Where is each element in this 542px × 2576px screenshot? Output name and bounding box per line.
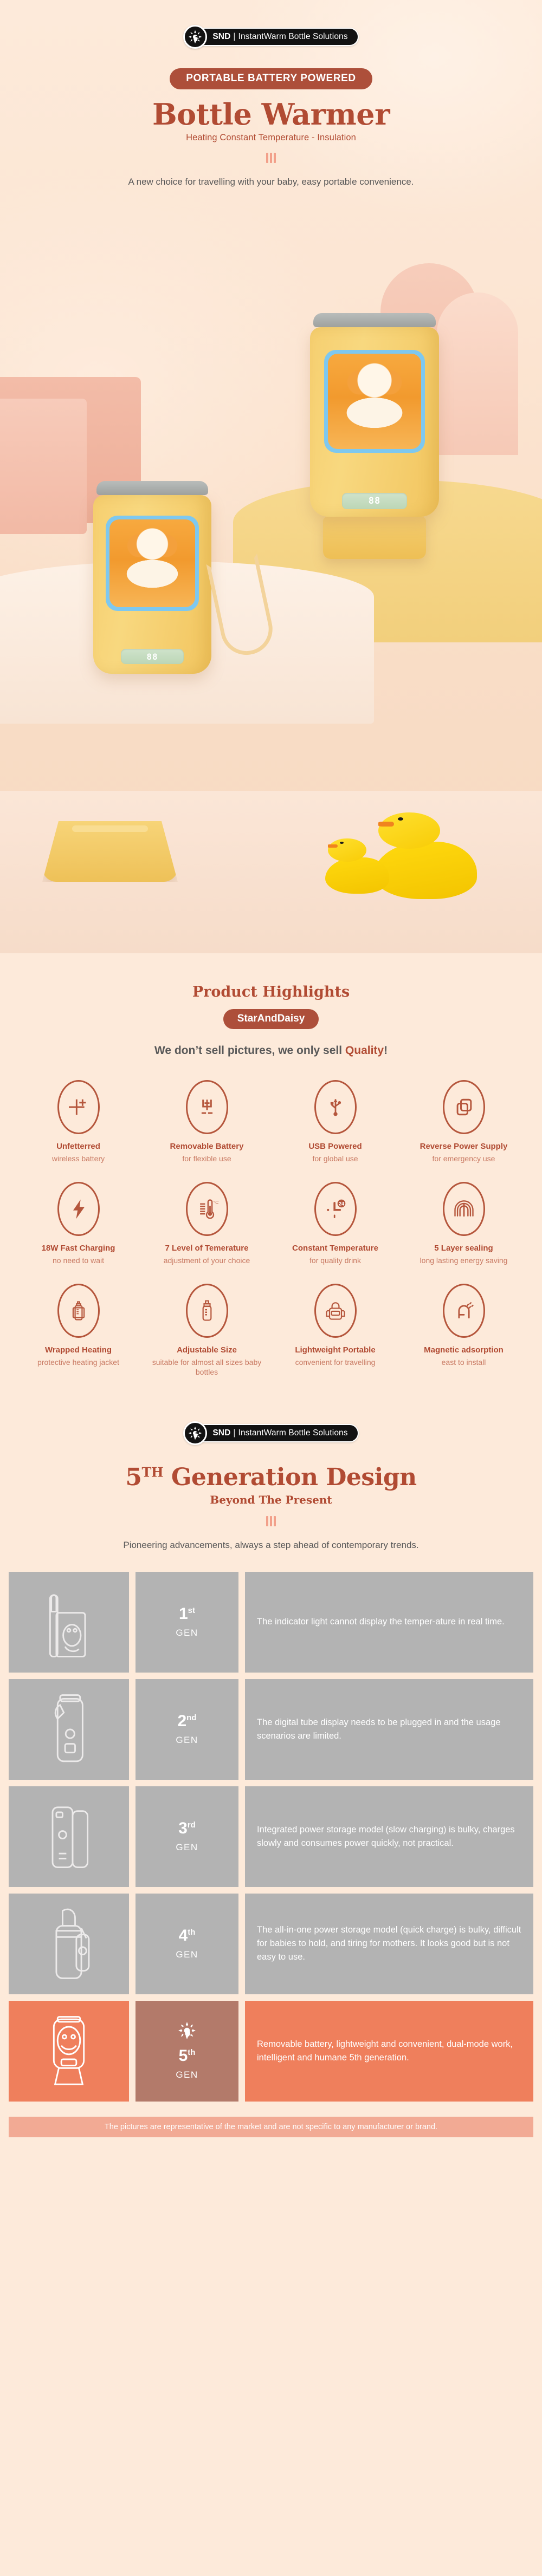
warmer-lid [313, 313, 436, 327]
warmer-lid [96, 481, 208, 495]
bottle-sleeve-icon [9, 1894, 129, 1994]
feature-title: 18W Fast Charging [17, 1244, 139, 1254]
backdrop-pillar-right-2 [437, 292, 518, 455]
generation-label: GEN [176, 2070, 198, 2080]
feature-item: Reverse Power Supply for emergency use [399, 1080, 528, 1163]
feature-subtitle: long lasting energy saving [403, 1256, 525, 1265]
duck-body [325, 857, 389, 894]
brand-name-full: InstantWarm Bottle Solutions [238, 32, 348, 42]
generation-ordinal: 1st [179, 1606, 195, 1622]
generation-ordinal: 2nd [177, 1713, 196, 1729]
brand-logo: SND | InstantWarm Bottle Solutions [183, 1421, 358, 1445]
generation-design-section: SND | InstantWarm Bottle Solutions 5TH G… [0, 1400, 542, 2137]
feature-subtitle: convenient for travelling [274, 1357, 396, 1367]
generation-title-rest: Generation Design [163, 1463, 417, 1491]
feature-subtitle: adjustment of your choice [146, 1256, 268, 1265]
quality-highlight: Quality [345, 1044, 384, 1057]
battery-cell-icon [57, 1080, 100, 1134]
disclaimer-footnote: The pictures are representative of the m… [9, 2117, 533, 2137]
feature-title: Reverse Power Supply [403, 1142, 525, 1152]
feature-subtitle: wireless battery [17, 1154, 139, 1163]
feature-subtitle: for global use [274, 1154, 396, 1163]
generation-subtitle: Beyond The Present [0, 1493, 542, 1506]
table-row: 1st GEN The indicator light cannot displ… [9, 1572, 533, 1673]
tiger-character-icon [328, 354, 421, 449]
feature-title: Wrapped Heating [17, 1345, 139, 1356]
feature-item: USB Powered for global use [271, 1080, 399, 1163]
feature-subtitle: no need to wait [17, 1256, 139, 1265]
svg-text:24: 24 [338, 1201, 344, 1207]
generation-description: The all-in-one power storage model (quic… [245, 1894, 533, 1994]
tiger-sticker [324, 350, 425, 453]
thermometer-icon: °C [186, 1182, 228, 1236]
generation-title-ordinal: TH [141, 1464, 163, 1480]
feature-item: 5 Layer sealing long lasting energy savi… [399, 1182, 528, 1265]
svg-text:°C: °C [213, 1200, 218, 1205]
feature-subtitle: suitable for almost all sizes baby bottl… [146, 1357, 268, 1377]
feature-title: Lightweight Portable [274, 1345, 396, 1356]
duck-head [328, 838, 366, 862]
feature-item: 18W Fast Charging no need to wait [14, 1182, 143, 1265]
generation-ordinal: 3rd [178, 1820, 196, 1837]
bottle-warmer-small: 88 [93, 481, 211, 674]
generation-title: 5TH Generation Design [0, 1463, 542, 1491]
feature-item: Lightweight Portable convenient for trav… [271, 1284, 399, 1377]
tiger-character-icon [109, 519, 195, 607]
duck-beak [328, 844, 338, 848]
table-row: 4th GEN The all-in-one power storage mod… [9, 1894, 533, 1994]
baby-bottle-icon [186, 1284, 228, 1338]
duck-beak [378, 822, 395, 827]
rubber-duck-small [325, 838, 389, 894]
feature-item: Adjustable Size suitable for almost all … [143, 1284, 271, 1377]
quality-suffix: ! [384, 1044, 388, 1057]
feature-title: 7 Level of Temerature [146, 1244, 268, 1254]
generation-label: GEN [176, 1628, 198, 1638]
generation-description: Integrated power storage model (slow cha… [245, 1786, 533, 1887]
hero-lede: A new choice for travelling with your ba… [119, 175, 423, 189]
generation-label: GEN [176, 1949, 198, 1960]
feature-subtitle: for quality drink [274, 1256, 396, 1265]
brand-logo-bar: SND | InstantWarm Bottle Solutions [196, 28, 358, 46]
feature-title: USB Powered [274, 1142, 396, 1152]
features-grid: Unfetterred wireless battery Removable B… [0, 1080, 542, 1377]
backpack-icon [314, 1284, 357, 1338]
hero-subtitle: Heating Constant Temperature - Insulatio… [0, 133, 542, 143]
generation-number: 2nd GEN [135, 1679, 238, 1780]
generation-number: 4th GEN [135, 1894, 238, 1994]
usb-icon [314, 1080, 357, 1134]
generation-ordinal: 5th [179, 2048, 196, 2064]
product-landing-page: SND | InstantWarm Bottle Solutions PORTA… [0, 0, 542, 2149]
temperature-display: 88 [121, 649, 184, 664]
generation-number: 3rd GEN [135, 1786, 238, 1887]
generation-number: 5th GEN [135, 2001, 238, 2102]
duck-body [374, 842, 477, 899]
brand-name-short: SND [212, 32, 230, 42]
generation-title-number: 5 [125, 1463, 141, 1491]
removable-battery-icon [186, 1080, 228, 1134]
triple-bar-divider-icon [266, 153, 276, 163]
temperature-display: 88 [342, 493, 407, 509]
cup-with-brush-icon [9, 1572, 129, 1673]
feature-item: Wrapped Heating protective heating jacke… [14, 1284, 143, 1377]
lightning-bolt-icon [57, 1182, 100, 1236]
brand-logo: SND | InstantWarm Bottle Solutions [183, 25, 358, 49]
layers-seal-icon [443, 1182, 485, 1236]
detachable-battery-base [42, 821, 178, 882]
feature-subtitle: for emergency use [403, 1154, 525, 1163]
feature-title: Removable Battery [146, 1142, 268, 1152]
wrapped-bottle-icon [57, 1284, 100, 1338]
tiger-warmer-icon [9, 2001, 129, 2102]
feature-subtitle: east to install [403, 1357, 525, 1367]
feature-title: Magnetic adsorption [403, 1345, 525, 1356]
page-title: Bottle Warmer [0, 97, 542, 132]
feature-title: 5 Layer sealing [403, 1244, 525, 1254]
brand-chip: StarAndDaisy [223, 1009, 319, 1029]
feature-item: °C 7 Level of Temerature adjustment of y… [143, 1182, 271, 1265]
brand-logo-bar: SND | InstantWarm Bottle Solutions [196, 1424, 358, 1442]
quality-prefix: We don’t sell pictures, we only sell [154, 1044, 345, 1057]
hero-section: SND | InstantWarm Bottle Solutions PORTA… [0, 0, 542, 953]
generation-description: Removable battery, lightweight and conve… [245, 2001, 533, 2102]
feature-item: 24 Constant Temperature for quality drin… [271, 1182, 399, 1265]
feature-title: Unfetterred [17, 1142, 139, 1152]
generation-description: The digital tube display needs to be plu… [245, 1679, 533, 1780]
clock-24h-icon: 24 [314, 1182, 357, 1236]
backdrop-block-left-2 [0, 399, 87, 534]
warmer-body: 88 [310, 327, 439, 517]
generation-ordinal: 4th [179, 1928, 196, 1944]
feature-title: Constant Temperature [274, 1244, 396, 1254]
brand-name-full: InstantWarm Bottle Solutions [238, 1428, 348, 1438]
generation-label: GEN [176, 1735, 198, 1746]
tiger-sticker [106, 516, 199, 611]
table-row: 2nd GEN The digital tube display needs t… [9, 1679, 533, 1780]
hero-title-block: PORTABLE BATTERY POWERED Bottle Warmer H… [0, 68, 542, 189]
triple-bar-divider-icon [266, 1516, 276, 1526]
duck-eye [340, 842, 343, 844]
generation-comparison-table: 1st GEN The indicator light cannot displ… [0, 1572, 542, 2110]
warmer-base [323, 517, 426, 559]
generation-lede: Pioneering advancements, always a step a… [119, 1538, 423, 1552]
duck-eye [398, 817, 403, 821]
feature-subtitle: for flexible use [146, 1154, 268, 1163]
rubber-duck-large [374, 812, 477, 899]
table-row: 5th GEN Removable battery, lightweight a… [9, 2001, 533, 2102]
highlights-title: Product Highlights [0, 984, 542, 1000]
feature-title: Adjustable Size [146, 1345, 268, 1356]
product-highlights-section: Product Highlights StarAndDaisy We don’t… [0, 953, 542, 1400]
brand-separator: | [233, 1428, 235, 1438]
reverse-power-icon [443, 1080, 485, 1134]
table-row: 3rd GEN Integrated power storage model (… [9, 1786, 533, 1887]
boxy-warmer-icon [9, 1786, 129, 1887]
brand-separator: | [233, 32, 235, 42]
bottle-warmer-large: 88 [310, 313, 439, 559]
brand-name-short: SND [212, 1428, 230, 1438]
feature-subtitle: protective heating jacket [17, 1357, 139, 1367]
hero-product-photo: 88 88 [0, 271, 542, 953]
handheld-warmer-icon [9, 1679, 129, 1780]
warmer-body: 88 [93, 495, 211, 674]
hero-badge: PORTABLE BATTERY POWERED [170, 68, 372, 89]
quality-statement: We don’t sell pictures, we only sell Qua… [0, 1044, 542, 1057]
generation-number: 1st GEN [135, 1572, 238, 1673]
feature-item: Unfetterred wireless battery [14, 1080, 143, 1163]
generation-label: GEN [176, 1842, 198, 1853]
feature-item: Removable Battery for flexible use [143, 1080, 271, 1163]
generation-description: The indicator light cannot display the t… [245, 1572, 533, 1673]
flower-gear-icon [178, 2021, 196, 2042]
feature-item: Magnetic adsorption east to install [399, 1284, 528, 1377]
magnet-icon [443, 1284, 485, 1338]
